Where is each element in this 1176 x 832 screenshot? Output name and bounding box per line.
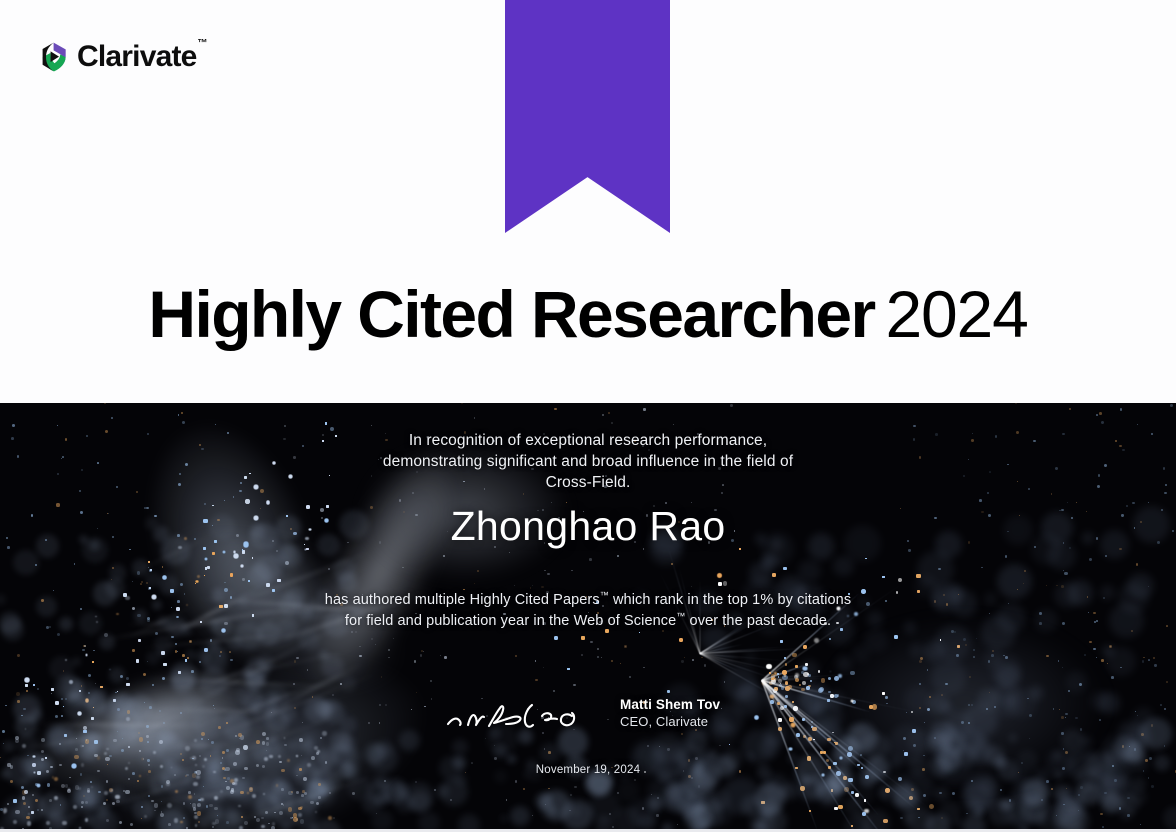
issue-date: November 19, 2024 [0,764,1176,776]
highly-cited-papers-trademark: ™ [600,590,609,600]
recognition-field: Cross-Field. [0,472,1176,493]
recognition-line-2: demonstrating significant and broad infl… [0,451,1176,472]
certificate-title-year: 2024 [886,277,1028,351]
handwritten-signature-icon [444,686,604,738]
award-line1-part-a: has authored multiple Highly Cited Paper… [325,592,600,608]
award-description-line-1: has authored multiple Highly Cited Paper… [0,590,1176,611]
award-line2-part-b: over the past decade. [685,613,831,629]
clarivate-hexagon-mark-icon [40,42,68,72]
clarivate-wordmark: Clarivate™ [77,42,207,72]
certificate-title: Highly Cited Researcher2024 [0,281,1176,347]
certificate-body-panel: In recognition of exceptional research p… [0,403,1176,832]
certificate-title-main: Highly Cited Researcher [148,277,874,351]
recognition-statement: In recognition of exceptional research p… [0,430,1176,493]
signatory-role: CEO, Clarivate [620,713,820,730]
award-description: has authored multiple Highly Cited Paper… [0,590,1176,632]
signature-block: Matti Shem Tov CEO, Clarivate [0,686,1176,746]
signatory-name: Matti Shem Tov [620,696,820,713]
clarivate-wordmark-text: Clarivate [77,40,197,73]
signatory-details: Matti Shem Tov CEO, Clarivate [620,696,820,730]
clarivate-trademark-symbol: ™ [198,38,208,49]
clarivate-logo: Clarivate™ [40,37,207,77]
certificate: Clarivate™ Highly Cited Researcher2024 I… [0,0,1176,832]
recognition-line-1: In recognition of exceptional research p… [0,430,1176,451]
award-line2-part-a: for field and publication year in the We… [345,613,676,629]
certificate-body-text: In recognition of exceptional research p… [0,403,1176,832]
award-description-line-2: for field and publication year in the We… [0,611,1176,632]
recipient-name: Zhonghao Rao [0,503,1176,550]
award-line1-part-b: which rank in the top 1% by citations [609,592,851,608]
